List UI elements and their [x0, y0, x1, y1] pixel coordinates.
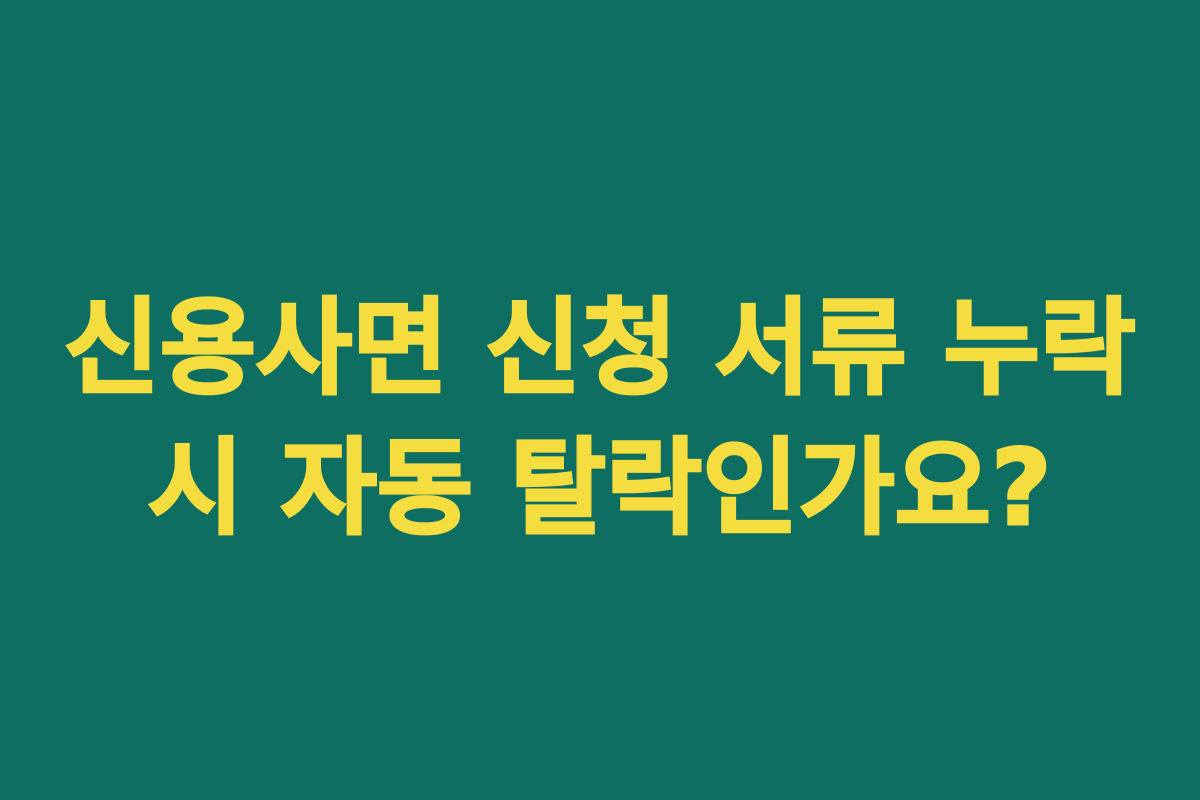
headline-block: 신용사면 신청 서류 누락 시 자동 탈락인가요? [0, 278, 1200, 558]
headline-line-1: 신용사면 신청 서류 누락 [24, 278, 1176, 418]
text-banner: 신용사면 신청 서류 누락 시 자동 탈락인가요? [0, 0, 1200, 800]
headline-line-2: 시 자동 탈락인가요? [24, 418, 1176, 558]
